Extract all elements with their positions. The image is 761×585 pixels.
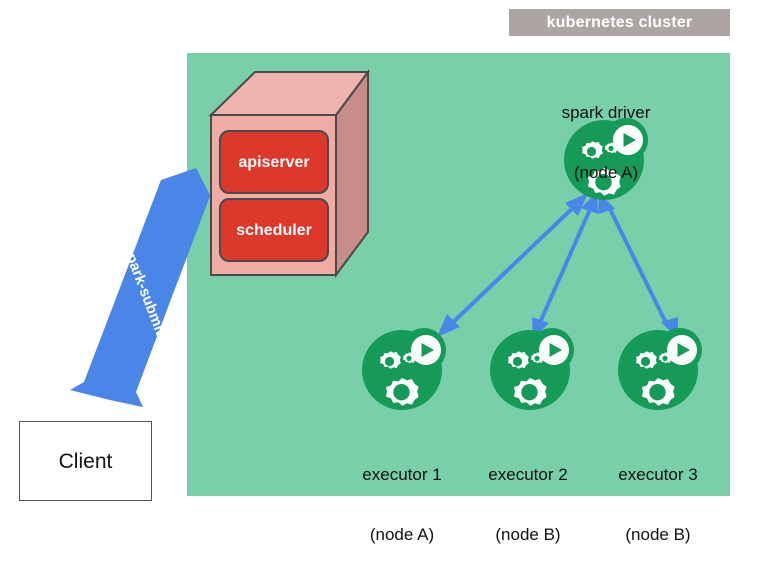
client-box[interactable]: Client: [19, 421, 152, 501]
executor-3-label: executor 3 (node B): [591, 425, 725, 585]
scheduler-component[interactable]: scheduler: [220, 199, 328, 261]
executor-1-label: executor 1 (node A): [335, 425, 469, 585]
executor-3-label-line1: executor 3: [591, 465, 725, 485]
spark-driver-label-line1: spark driver: [511, 103, 701, 123]
diagram-canvas: kubernetes cluster spark-submit: [0, 0, 761, 516]
kubernetes-control-plane-cube[interactable]: apiserver scheduler: [211, 72, 368, 275]
spark-driver-label: spark driver (node A): [511, 63, 701, 223]
scheduler-label: scheduler: [236, 222, 312, 239]
executor-2-label-line1: executor 2: [461, 465, 595, 485]
apiserver-component[interactable]: apiserver: [220, 131, 328, 193]
spark-driver-label-line2: (node A): [511, 163, 701, 183]
executor-1-label-line1: executor 1: [335, 465, 469, 485]
executor-2-label-line2: (node B): [461, 525, 595, 545]
kubernetes-cluster-badge: kubernetes cluster: [509, 9, 730, 36]
client-label: Client: [59, 451, 113, 472]
executor-2-label: executor 2 (node B): [461, 425, 595, 585]
kubernetes-cluster-badge-label: kubernetes cluster: [547, 15, 693, 31]
executor-1-label-line2: (node A): [335, 525, 469, 545]
executor-3-label-line2: (node B): [591, 525, 725, 545]
apiserver-label: apiserver: [238, 154, 309, 171]
